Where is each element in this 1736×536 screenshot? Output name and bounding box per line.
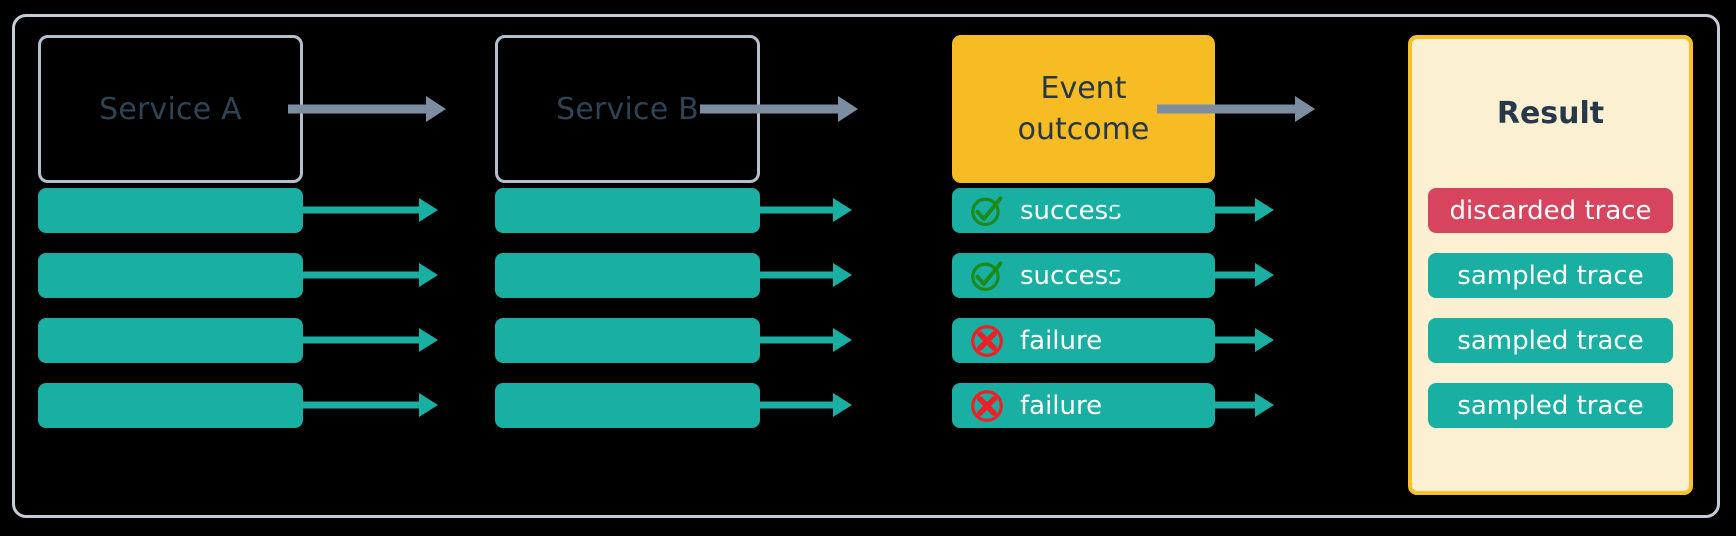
arrow-shaft [288, 105, 428, 114]
check-circle-icon [968, 192, 1006, 230]
header-service-b-label: Service B [556, 92, 699, 127]
arrow-shaft [700, 402, 835, 409]
table-row-4-outcome-label: failure [1020, 391, 1102, 421]
header-event-outcome-label-line1: Event [1018, 68, 1150, 109]
table-row-3-result-label: sampled trace [1457, 326, 1643, 356]
arrow-head [419, 198, 438, 222]
arrow-head [838, 96, 858, 122]
table-row-2-result-label: sampled trace [1457, 261, 1643, 291]
arrow-shaft [1112, 272, 1257, 279]
table-row-2-result-bar: sampled trace [1428, 253, 1673, 298]
table-row-4-result-label: sampled trace [1457, 391, 1643, 421]
arrow-head [419, 328, 438, 352]
arrow-head [419, 393, 438, 417]
arrow-shaft [1112, 402, 1257, 409]
arrow-shaft [1112, 337, 1257, 344]
table-row-2-outcome-label: success [1020, 261, 1122, 291]
arrow-head [419, 263, 438, 287]
table-row-3-result-bar: sampled trace [1428, 318, 1673, 363]
arrow-head [1255, 393, 1274, 417]
table-row-1-outcome-label: success [1020, 196, 1122, 226]
table-row-4-result-bar: sampled trace [1428, 383, 1673, 428]
table-row-4-service-a-bar [38, 383, 303, 428]
arrow-head [833, 198, 852, 222]
x-circle-icon [968, 322, 1006, 360]
table-row-1-service-a-bar [38, 188, 303, 233]
arrow-shaft [700, 272, 835, 279]
header-service-a: Service A [38, 35, 303, 183]
arrow-head [1255, 198, 1274, 222]
arrow-head [833, 328, 852, 352]
arrow-shaft [288, 337, 421, 344]
arrow-shaft [700, 337, 835, 344]
arrow-shaft [288, 207, 421, 214]
diagram-canvas: Service A Service B Event outcome Result [0, 0, 1736, 536]
arrow-head [1295, 96, 1315, 122]
table-row-2-service-a-bar [38, 253, 303, 298]
check-circle-icon [968, 257, 1006, 295]
table-row-1-result-bar: discarded trace [1428, 188, 1673, 233]
table-row-3-service-a-bar [38, 318, 303, 363]
table-row-3-outcome-label: failure [1020, 326, 1102, 356]
arrow-head [833, 263, 852, 287]
arrow-shaft [288, 402, 421, 409]
arrow-head [1255, 328, 1274, 352]
header-event-outcome-label-line2: outcome [1018, 109, 1150, 150]
arrow-shaft [1157, 105, 1297, 114]
arrow-shaft [700, 105, 840, 114]
arrow-shaft [700, 207, 835, 214]
arrow-head [1255, 263, 1274, 287]
header-service-a-label: Service A [99, 92, 242, 127]
result-panel-title: Result [1412, 39, 1689, 187]
arrow-head [833, 393, 852, 417]
x-circle-icon [968, 387, 1006, 425]
arrow-head [426, 96, 446, 122]
arrow-shaft [1112, 207, 1257, 214]
table-row-1-result-label: discarded trace [1449, 196, 1651, 226]
arrow-shaft [288, 272, 421, 279]
